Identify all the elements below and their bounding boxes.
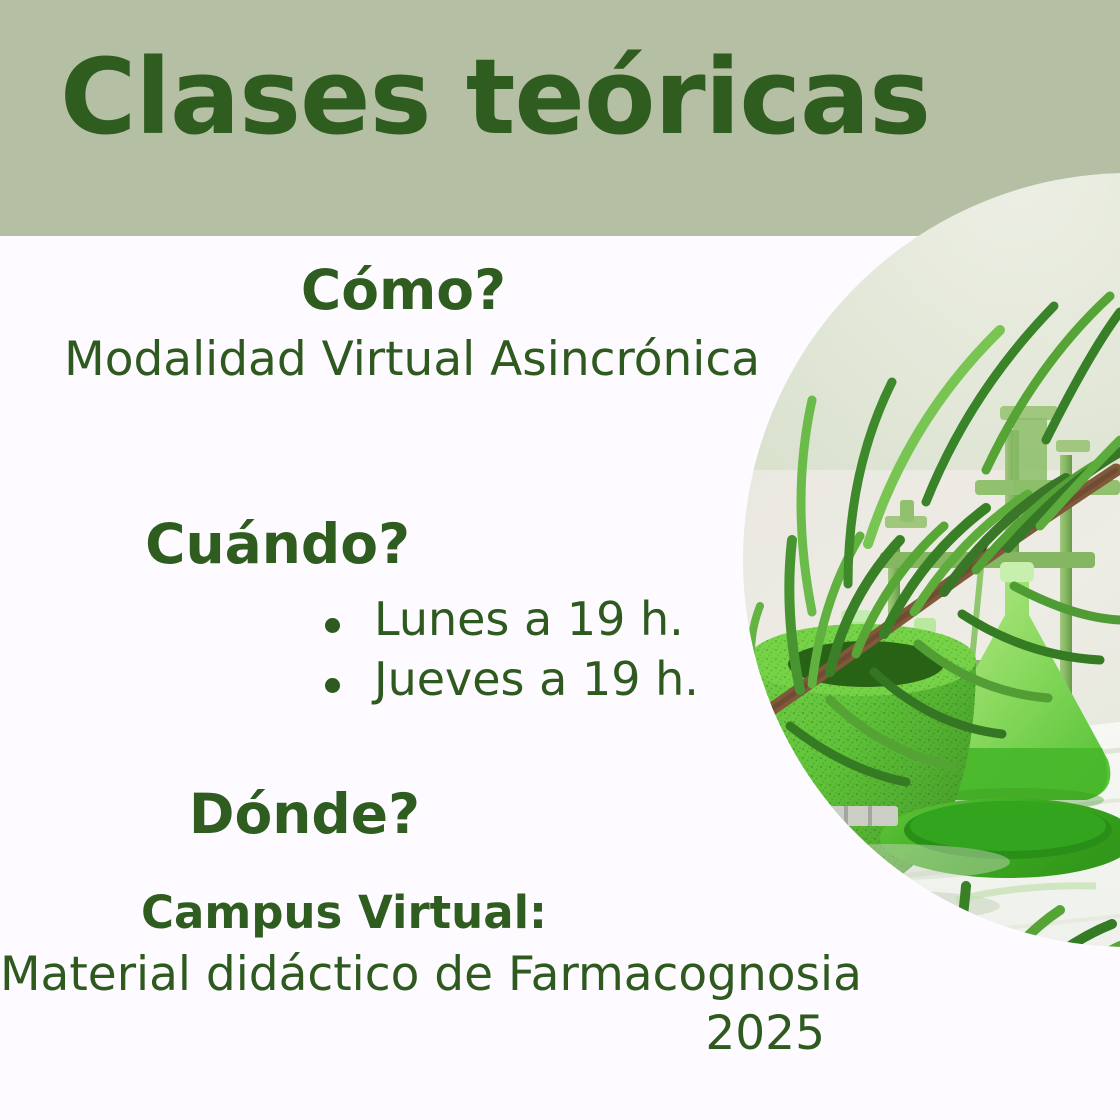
schedule-item-label: Jueves a 19 h.: [374, 650, 699, 710]
list-item: Jueves a 19 h.: [0, 650, 840, 710]
conical-flask-main: [924, 562, 1111, 812]
schedule-item-label: Lunes a 19 h.: [374, 590, 684, 650]
donde-body: Material didáctico de Farmacognosia: [0, 949, 840, 1002]
como-heading: Cómo?: [0, 262, 840, 320]
como-body: Modalidad Virtual Asincrónica: [0, 334, 840, 387]
list-item: Lunes a 19 h.: [0, 590, 840, 650]
section-cuando: Cuándo? Lunes a 19 h. Jueves a 19 h.: [0, 516, 840, 709]
section-como: Cómo? Modalidad Virtual Asincrónica: [0, 262, 840, 386]
retort-stand: [880, 406, 1120, 761]
pipette: [968, 540, 986, 700]
content-column: Cómo? Modalidad Virtual Asincrónica Cuán…: [0, 236, 840, 1120]
conical-flask-rear: [877, 618, 972, 766]
rosemary-sprig-lower: [824, 886, 1120, 1098]
cuando-heading: Cuándo?: [0, 516, 840, 574]
donde-year: 2025: [0, 1008, 840, 1061]
donde-subheading: Campus Virtual:: [0, 888, 840, 938]
page-title: Clases teóricas: [60, 36, 930, 159]
bullet-icon: [325, 678, 340, 693]
donde-heading: Dónde?: [0, 786, 840, 844]
schedule-list: Lunes a 19 h. Jueves a 19 h.: [0, 590, 840, 710]
poster-root: Clases teóricas Cómo? Modalidad Virtual …: [0, 0, 1120, 1120]
glass-tube: [841, 610, 871, 738]
bullet-icon: [325, 618, 340, 633]
section-donde: Dónde? Campus Virtual: Material didáctic…: [0, 786, 840, 1061]
